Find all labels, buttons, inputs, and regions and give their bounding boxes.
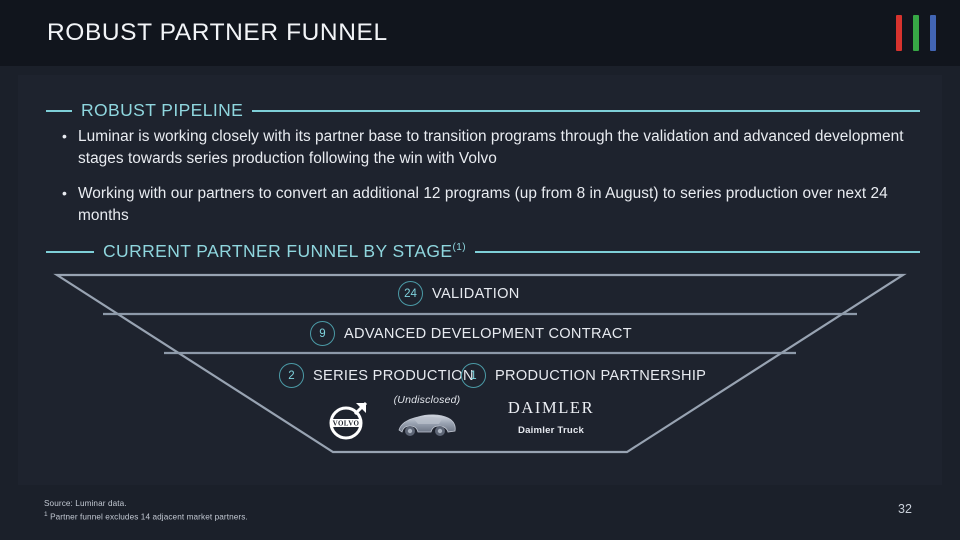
logo-bar-green bbox=[913, 15, 919, 51]
logo-bar-blue bbox=[930, 15, 936, 51]
list-item: Luminar is working closely with its part… bbox=[56, 126, 916, 170]
daimler-sublabel: Daimler Truck bbox=[492, 425, 610, 436]
funnel-heading-superscript: (1) bbox=[453, 242, 466, 253]
section-heading-funnel: CURRENT PARTNER FUNNEL BY STAGE(1) bbox=[46, 241, 920, 262]
funnel-stage-advanced-development[interactable]: 9 ADVANCED DEVELOPMENT CONTRACT bbox=[310, 321, 632, 346]
status-badge: 1 bbox=[461, 363, 486, 388]
funnel-stage-validation[interactable]: 24 VALIDATION bbox=[398, 281, 520, 306]
page-number: 32 bbox=[898, 502, 912, 516]
footnote-block: Source: Luminar data. 1 Partner funnel e… bbox=[44, 498, 248, 523]
heading-dash-left bbox=[46, 251, 94, 253]
section-heading-pipeline-label: ROBUST PIPELINE bbox=[72, 100, 252, 121]
slide-header: ROBUST PARTNER FUNNEL bbox=[0, 0, 960, 66]
volvo-logo-icon: VOLVO bbox=[325, 398, 371, 444]
daimler-wordmark: DAIMLER bbox=[492, 398, 610, 418]
status-badge: 2 bbox=[279, 363, 304, 388]
status-badge: 24 bbox=[398, 281, 423, 306]
section-heading-funnel-label: CURRENT PARTNER FUNNEL BY STAGE(1) bbox=[94, 241, 475, 262]
brand-logo-icon bbox=[896, 15, 944, 51]
slide-canvas: ROBUST PARTNER FUNNEL ROBUST PIPELINE Lu… bbox=[0, 0, 960, 540]
funnel-stage-label: VALIDATION bbox=[432, 286, 520, 302]
heading-rule-right bbox=[475, 251, 920, 253]
car-icon bbox=[396, 407, 458, 439]
funnel-stage-label: ADVANCED DEVELOPMENT CONTRACT bbox=[344, 326, 632, 342]
funnel-stage-production-partnership[interactable]: 1 PRODUCTION PARTNERSHIP bbox=[461, 363, 706, 388]
heading-dash-left bbox=[46, 110, 72, 112]
heading-rule-right bbox=[252, 110, 920, 112]
funnel-stage-label: SERIES PRODUCTION bbox=[313, 368, 474, 384]
undisclosed-partner: (Undisclosed) bbox=[386, 394, 468, 446]
list-item: Working with our partners to convert an … bbox=[56, 183, 916, 227]
volvo-wordmark: VOLVO bbox=[333, 420, 360, 428]
funnel-stage-label: PRODUCTION PARTNERSHIP bbox=[495, 368, 706, 384]
funnel-footnote: 1 Partner funnel excludes 14 adjacent ma… bbox=[44, 509, 248, 523]
daimler-logo: DAIMLER Daimler Truck bbox=[492, 398, 610, 436]
section-heading-pipeline: ROBUST PIPELINE bbox=[46, 100, 920, 121]
source-note: Source: Luminar data. bbox=[44, 498, 248, 509]
pipeline-bullet-list: Luminar is working closely with its part… bbox=[56, 126, 916, 240]
page-title: ROBUST PARTNER FUNNEL bbox=[47, 19, 388, 47]
logo-bar-red bbox=[896, 15, 902, 51]
undisclosed-caption: (Undisclosed) bbox=[386, 394, 468, 406]
status-badge: 9 bbox=[310, 321, 335, 346]
footnote-text: Partner funnel excludes 14 adjacent mark… bbox=[48, 513, 248, 522]
funnel-stage-series-production[interactable]: 2 SERIES PRODUCTION bbox=[279, 363, 474, 388]
funnel-heading-text: CURRENT PARTNER FUNNEL BY STAGE bbox=[103, 241, 453, 261]
